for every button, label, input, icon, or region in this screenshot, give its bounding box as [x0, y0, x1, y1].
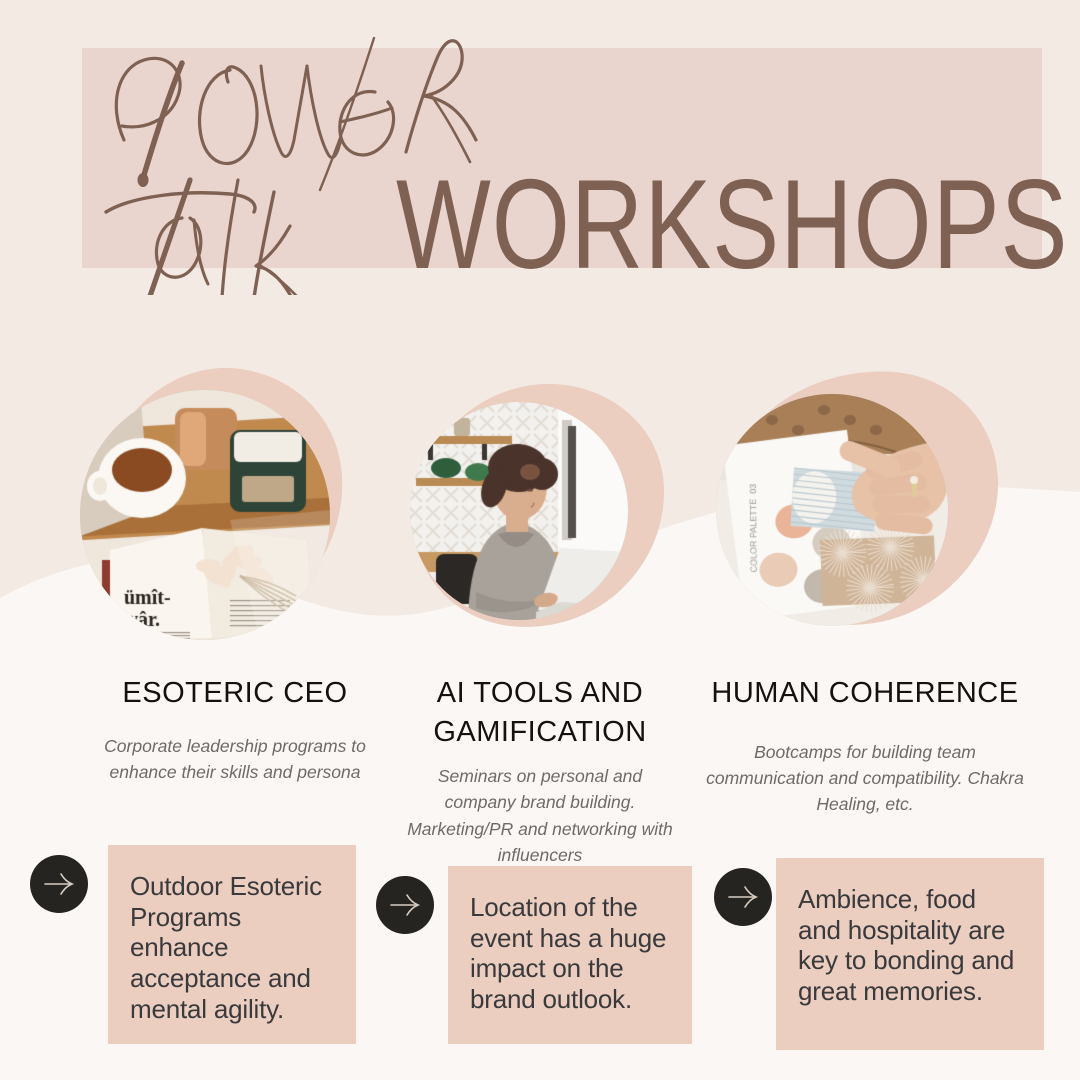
photo-image — [716, 394, 948, 626]
arrow-right-icon[interactable] — [376, 876, 434, 934]
photo-zone — [70, 360, 400, 660]
card-title: AI TOOLS AND GAMIFICATION — [400, 674, 680, 751]
photo-circle — [716, 394, 948, 626]
highlight-text: Outdoor Esoteric Programs enhance accept… — [130, 871, 334, 1024]
highlight-box: Ambience, food and hospitality are key t… — [776, 858, 1044, 1050]
photo-image — [80, 390, 330, 640]
header-display-word: WORKSHOPS — [396, 150, 1068, 298]
photo-zone — [700, 360, 1030, 660]
photo-image — [410, 402, 628, 620]
highlight-text: Location of the event has a huge impact … — [470, 892, 670, 1015]
photo-circle — [80, 390, 330, 640]
workshop-column-human-coherence: HUMAN COHERENCE Bootcamps for building t… — [700, 360, 1030, 817]
photo-zone — [400, 360, 680, 660]
highlight-box: Location of the event has a huge impact … — [448, 866, 692, 1044]
card-description: Bootcamps for building team communicatio… — [700, 739, 1030, 818]
card-title: HUMAN COHERENCE — [700, 674, 1030, 713]
arrow-right-icon[interactable] — [30, 855, 88, 913]
card-description: Corporate leadership programs to enhance… — [70, 733, 400, 786]
highlight-text: Ambience, food and hospitality are key t… — [798, 884, 1022, 1007]
poster-header: WORKSHOPS — [0, 0, 1080, 330]
workshop-columns: ESOTERIC CEO Corporate leadership progra… — [0, 360, 1080, 900]
workshop-column-ai-tools: AI TOOLS AND GAMIFICATION Seminars on pe… — [400, 360, 680, 868]
arrow-right-icon[interactable] — [714, 868, 772, 926]
highlight-box: Outdoor Esoteric Programs enhance accept… — [108, 845, 356, 1044]
card-title: ESOTERIC CEO — [70, 674, 400, 713]
card-description: Seminars on personal and company brand b… — [400, 763, 680, 868]
photo-circle — [410, 402, 628, 620]
workshop-column-esoteric-ceo: ESOTERIC CEO Corporate leadership progra… — [70, 360, 400, 785]
poster-canvas: WORKSHOPS ESOTERIC CEO Corporate leaders… — [0, 0, 1080, 1080]
